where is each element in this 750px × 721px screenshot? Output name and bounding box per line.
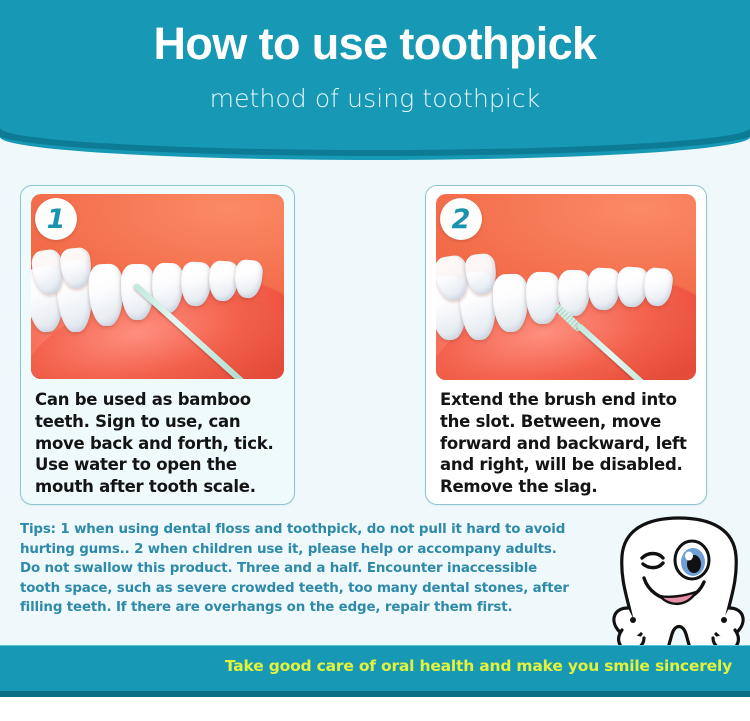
step-2-caption: Extend the brush end into the slot. Betw… [440,389,698,498]
step-1-badge: 1 [35,198,77,240]
infographic-page: How to use toothpick method of using too… [0,0,750,721]
footer-slogan: Take good care of oral health and make y… [225,657,732,675]
step-card-2: 2 Extend the brush end into the slot. Be… [425,185,707,505]
step-1-caption: Can be used as bamboo teeth. Sign to use… [35,389,285,498]
page-title: How to use toothpick [0,20,750,69]
footer-bottom-margin [0,697,750,721]
page-subtitle: method of using toothpick [0,84,750,113]
step-card-1: 1 Can be used as bamboo teeth. Sign to u… [20,185,295,505]
step-2-badge: 2 [440,198,482,240]
tips-text: Tips: 1 when using dental floss and toot… [20,520,580,618]
